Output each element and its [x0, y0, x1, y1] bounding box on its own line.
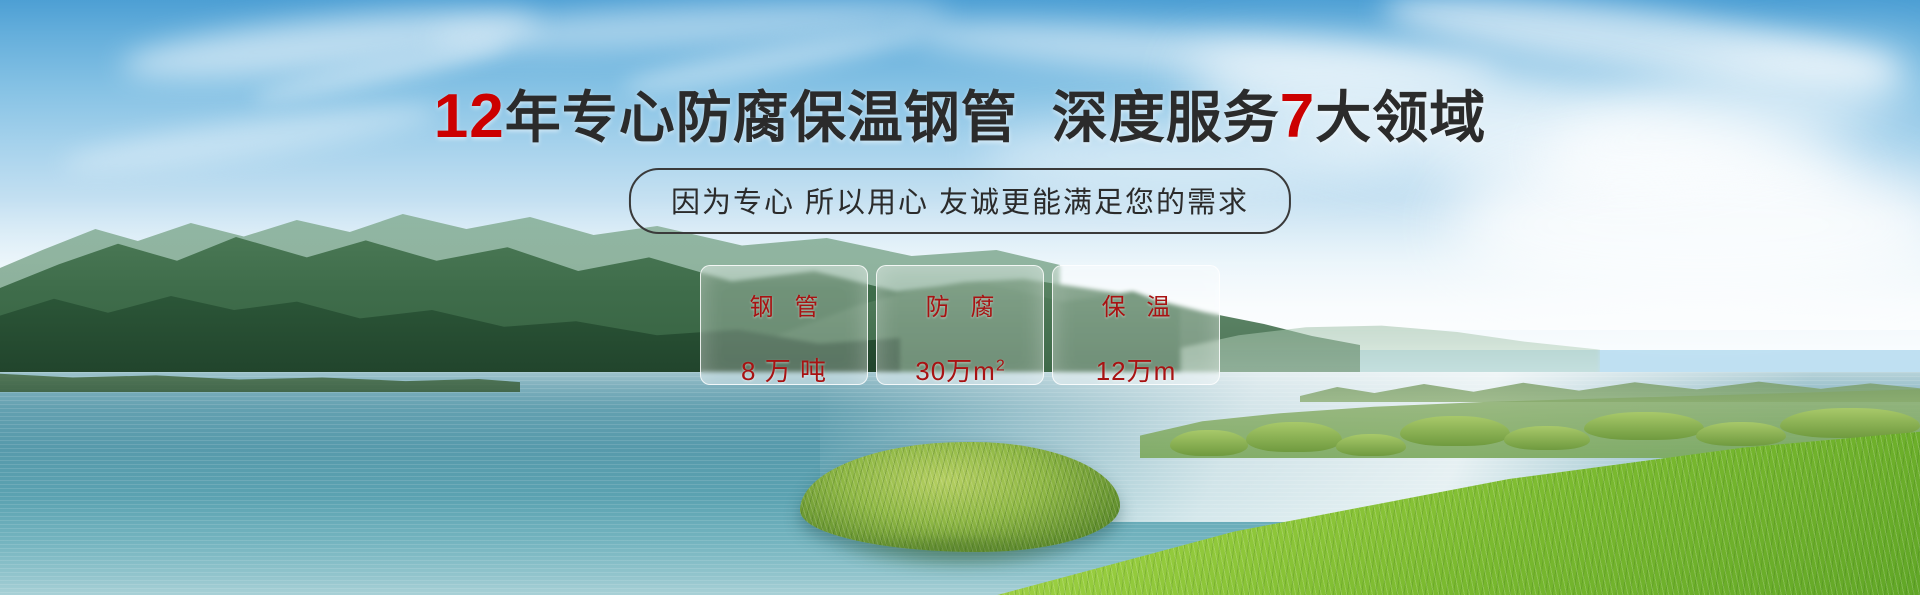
hero-banner: 12年专心防腐保温钢管深度服务7大领域 因为专心 所以用心 友诚更能满足您的需求… — [0, 0, 1920, 595]
stat-card-title: 防 腐 — [919, 287, 1002, 322]
banner-subtitle-text: 因为专心 所以用心 友诚更能满足您的需求 — [671, 187, 1249, 219]
stat-value-text: 30万m — [915, 356, 996, 386]
stat-card-insulation: 保 温 12万m — [1052, 265, 1220, 385]
banner-text-overlay: 12年专心防腐保温钢管深度服务7大领域 因为专心 所以用心 友诚更能满足您的需求… — [0, 0, 1920, 595]
stat-card-anticorrosion: 防 腐 30万m2 — [876, 265, 1044, 385]
stat-card-value: 12万m — [1096, 351, 1177, 388]
stat-card-title: 保 温 — [1095, 287, 1178, 322]
stat-card-value: 8 万 吨 — [741, 351, 827, 388]
stat-card-group: 钢 管 8 万 吨 防 腐 30万m2 保 温 12万m — [700, 265, 1220, 385]
headline-text-service: 深度服务 — [1052, 86, 1280, 149]
stat-card-steel-pipe: 钢 管 8 万 吨 — [700, 265, 868, 385]
banner-subtitle-pill: 因为专心 所以用心 友诚更能满足您的需求 — [629, 168, 1291, 234]
headline-text-fields: 大领域 — [1315, 86, 1486, 149]
headline-text-primary: 年专心防腐保温钢管 — [505, 86, 1018, 149]
headline-years-number: 12 — [434, 82, 505, 151]
banner-headline: 12年专心防腐保温钢管深度服务7大领域 — [0, 86, 1920, 148]
headline-fields-number: 7 — [1280, 82, 1315, 151]
stat-card-value: 30万m2 — [915, 351, 1005, 388]
stat-value-superscript: 2 — [996, 357, 1005, 374]
stat-value-text: 12万m — [1096, 356, 1177, 386]
stat-value-text: 8 万 吨 — [741, 356, 827, 386]
stat-card-title: 钢 管 — [743, 287, 826, 322]
